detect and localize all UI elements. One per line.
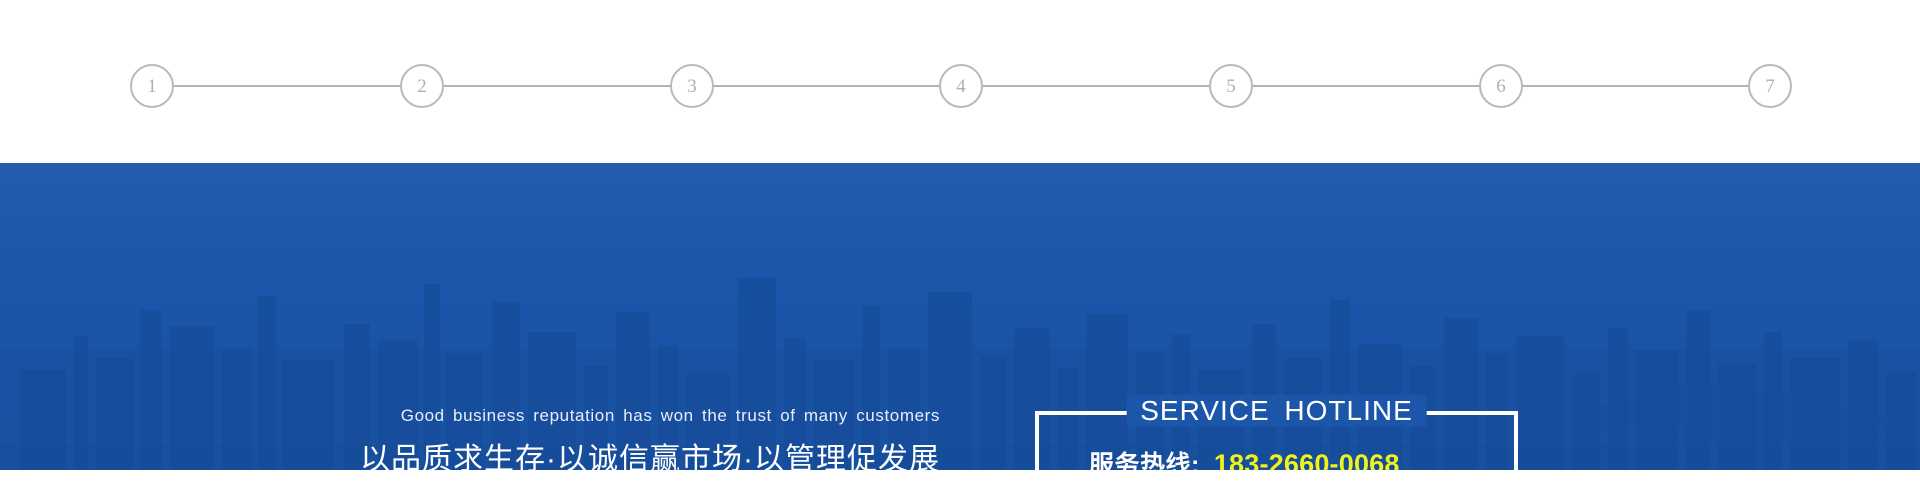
step-label-6: 6 (1496, 77, 1506, 96)
page-root: 1 2 3 4 5 6 7 (0, 0, 1920, 500)
slogan-chinese-main: 以品质求生存·以诚信赢市场·以管理促发展 (0, 434, 940, 470)
step-circle-7[interactable]: 7 (1748, 64, 1792, 108)
promo-banner: Good business reputation has won the tru… (0, 163, 1920, 470)
hotline-title: SERVICE HOTLINE (1126, 395, 1427, 427)
step-circle-3[interactable]: 3 (670, 64, 714, 108)
step-indicator: 1 2 3 4 5 6 7 (0, 0, 1920, 163)
step-label-5: 5 (1226, 77, 1236, 96)
step-label-2: 2 (417, 77, 427, 96)
slogan-block: Good business reputation has won the tru… (0, 406, 940, 470)
step-label-3: 3 (687, 77, 697, 96)
step-label-1: 1 (147, 77, 157, 96)
step-label-4: 4 (956, 77, 966, 96)
hotline-label: 服务热线: (1089, 445, 1200, 470)
step-circle-6[interactable]: 6 (1479, 64, 1523, 108)
step-circle-2[interactable]: 2 (400, 64, 444, 108)
step-label-7: 7 (1765, 77, 1775, 96)
slogan-english: Good business reputation has won the tru… (0, 406, 940, 426)
step-circle-1[interactable]: 1 (130, 64, 174, 108)
hotline-rows: 服务热线: 183-2660-0068 服务热线: 0551-63749777 (1039, 445, 1514, 470)
step-circle-5[interactable]: 5 (1209, 64, 1253, 108)
step-circle-4[interactable]: 4 (939, 64, 983, 108)
hotline-number-1[interactable]: 183-2660-0068 (1214, 449, 1400, 470)
hotline-row-primary: 服务热线: 183-2660-0068 (1039, 445, 1514, 470)
hotline-box: SERVICE HOTLINE 服务热线: 183-2660-0068 服务热线… (1035, 411, 1518, 470)
